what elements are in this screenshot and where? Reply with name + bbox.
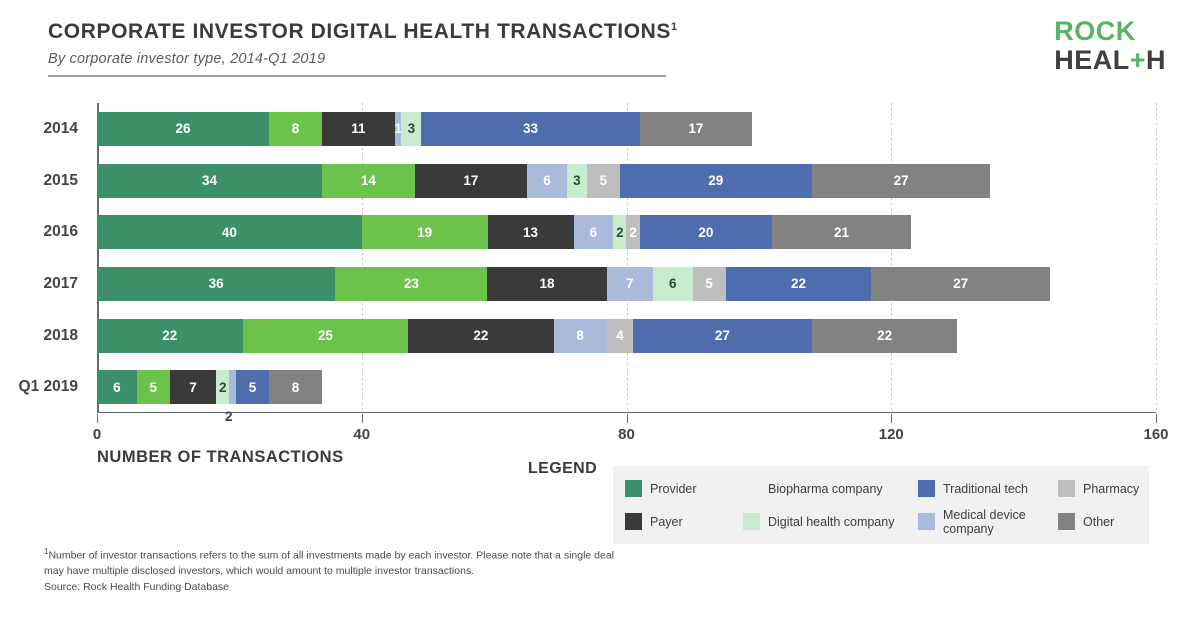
legend-item-label: Other — [1083, 515, 1114, 529]
bar-segment[interactable]: 29 — [620, 164, 812, 198]
bar-segment[interactable]: 8 — [554, 319, 607, 353]
x-tick-label-0: 0 — [93, 426, 101, 443]
bar-segment[interactable]: 22 — [408, 319, 554, 353]
bar-segment[interactable]: 5 — [693, 267, 726, 301]
chart-title-text: CORPORATE INVESTOR DIGITAL HEALTH TRANSA… — [48, 20, 671, 43]
bar-row-q1-2019[interactable]: 657258 — [97, 370, 322, 404]
x-tick-0 — [97, 414, 98, 423]
bar-segment[interactable]: 22 — [97, 319, 243, 353]
bar-segment[interactable]: 3 — [567, 164, 587, 198]
x-tick-40 — [362, 414, 363, 423]
bar-segment[interactable]: 13 — [488, 215, 574, 249]
legend-item-medical-device-company[interactable]: Medical device company — [918, 505, 1058, 538]
legend-grid: ProviderBiopharma companyTraditional tec… — [613, 472, 1149, 538]
gridline-40 — [362, 103, 363, 413]
bar-row-2018[interactable]: 222522842722 — [97, 319, 957, 353]
footnote-source: Source: Rock Health Funding Database — [44, 581, 229, 593]
bar-segment[interactable]: 7 — [607, 267, 653, 301]
x-axis-title: NUMBER OF TRANSACTIONS — [97, 448, 344, 467]
legend-swatch-icon — [1058, 480, 1075, 497]
x-tick-label-40: 40 — [353, 426, 370, 443]
bar-segment[interactable]: 17 — [640, 112, 753, 146]
bar-segment[interactable] — [229, 370, 236, 404]
bar-row-2016[interactable]: 4019136222021 — [97, 215, 911, 249]
logo-heal-text: HEAL — [1054, 45, 1130, 75]
footnote-line-1: Number of investor transactions refers t… — [48, 550, 560, 562]
legend-item-traditional-tech[interactable]: Traditional tech — [918, 472, 1058, 505]
chart-plot-area: 2681113331734141763529274019136222021362… — [97, 103, 1156, 413]
bar-segment[interactable]: 6 — [574, 215, 614, 249]
gridline-160 — [1156, 103, 1157, 413]
bar-segment[interactable]: 36 — [97, 267, 335, 301]
legend-swatch-icon — [918, 480, 935, 497]
legend-item-label: Provider — [650, 482, 697, 496]
bar-segment[interactable]: 6 — [97, 370, 137, 404]
page-title: CORPORATE INVESTOR DIGITAL HEALTH TRANSA… — [48, 20, 668, 44]
legend-item-provider[interactable]: Provider — [625, 472, 743, 505]
bar-segment[interactable]: 6 — [527, 164, 567, 198]
chart-header: CORPORATE INVESTOR DIGITAL HEALTH TRANSA… — [48, 20, 668, 77]
bar-segment[interactable]: 1 — [395, 112, 402, 146]
legend-item-other[interactable]: Other — [1058, 505, 1161, 538]
bar-segment[interactable]: 19 — [362, 215, 488, 249]
legend-swatch-icon — [625, 480, 642, 497]
bar-segment[interactable]: 14 — [322, 164, 415, 198]
legend-heading: LEGEND — [528, 460, 597, 478]
footnote: 1Number of investor transactions refers … — [44, 546, 614, 596]
x-axis: 04080120160 — [97, 414, 1156, 444]
legend-item-label: Biopharma company — [768, 482, 883, 496]
gridline-80 — [627, 103, 628, 413]
title-divider — [48, 75, 666, 77]
bar-segment[interactable]: 18 — [487, 267, 606, 301]
bar-segment[interactable]: 5 — [587, 164, 620, 198]
bar-segment[interactable]: 34 — [97, 164, 322, 198]
y-axis-labels: 20142015201620172018Q1 2019 — [0, 103, 90, 413]
bar-segment[interactable]: 26 — [97, 112, 269, 146]
legend-swatch-icon — [1058, 513, 1075, 530]
bar-row-2014[interactable]: 26811133317 — [97, 112, 752, 146]
bar-row-2015[interactable]: 3414176352927 — [97, 164, 990, 198]
x-tick-120 — [891, 414, 892, 423]
rock-health-logo: ROCK HEAL+H — [1054, 18, 1166, 74]
legend-item-pharmacy[interactable]: Pharmacy — [1058, 472, 1161, 505]
bar-segment[interactable]: 2 — [216, 370, 229, 404]
legend-item-biopharma-company[interactable]: Biopharma company — [743, 472, 918, 505]
chart-title-footnote-marker: 1 — [671, 21, 678, 33]
bar-segment[interactable]: 27 — [633, 319, 812, 353]
logo-health-text: HEAL+H — [1054, 47, 1166, 74]
y-axis-label-2017: 2017 — [44, 275, 78, 293]
bar-segment[interactable]: 3 — [401, 112, 421, 146]
y-axis-label-2014: 2014 — [44, 120, 78, 138]
bar-segment[interactable]: 7 — [170, 370, 216, 404]
overflow-data-label: 2 — [225, 409, 233, 424]
y-axis-label-2015: 2015 — [44, 172, 78, 190]
y-axis-label-q1-2019: Q1 2019 — [19, 378, 78, 396]
bar-segment[interactable]: 27 — [812, 164, 991, 198]
bar-segment[interactable]: 22 — [812, 319, 958, 353]
bar-segment[interactable]: 17 — [415, 164, 528, 198]
legend-swatch-icon — [625, 513, 642, 530]
y-axis-line — [97, 103, 99, 413]
bar-segment[interactable]: 5 — [137, 370, 170, 404]
bar-segment[interactable]: 40 — [97, 215, 362, 249]
x-tick-label-160: 160 — [1143, 426, 1168, 443]
bar-segment[interactable]: 11 — [322, 112, 395, 146]
legend-swatch-icon — [743, 480, 760, 497]
bar-segment[interactable]: 2 — [613, 215, 626, 249]
bar-segment[interactable]: 6 — [653, 267, 693, 301]
legend-item-label: Digital health company — [768, 515, 894, 529]
logo-h-text: H — [1146, 45, 1166, 75]
bar-segment[interactable]: 8 — [269, 112, 322, 146]
legend-item-label: Pharmacy — [1083, 482, 1139, 496]
legend-item-payer[interactable]: Payer — [625, 505, 743, 538]
gridline-120 — [891, 103, 892, 413]
bar-segment[interactable]: 27 — [871, 267, 1050, 301]
bar-segment[interactable]: 22 — [726, 267, 872, 301]
bar-segment[interactable]: 5 — [236, 370, 269, 404]
bar-segment[interactable]: 23 — [335, 267, 487, 301]
legend-item-digital-health-company[interactable]: Digital health company — [743, 505, 918, 538]
x-tick-label-120: 120 — [879, 426, 904, 443]
bar-segment[interactable]: 2 — [626, 215, 639, 249]
bar-segment[interactable]: 20 — [640, 215, 772, 249]
bar-segment[interactable]: 4 — [607, 319, 633, 353]
x-tick-160 — [1156, 414, 1157, 423]
x-tick-80 — [627, 414, 628, 423]
legend-item-label: Medical device company — [943, 508, 1058, 536]
bar-row-2017[interactable]: 3623187652227 — [97, 267, 1050, 301]
legend-box: ProviderBiopharma companyTraditional tec… — [613, 466, 1149, 544]
y-axis-label-2016: 2016 — [44, 223, 78, 241]
bar-segment[interactable]: 33 — [421, 112, 639, 146]
legend-swatch-icon — [743, 513, 760, 530]
legend-item-label: Payer — [650, 515, 683, 529]
x-tick-label-80: 80 — [618, 426, 635, 443]
bar-segment[interactable]: 25 — [243, 319, 408, 353]
chart-subtitle: By corporate investor type, 2014-Q1 2019 — [48, 51, 668, 67]
logo-rock-text: ROCK — [1054, 18, 1166, 45]
legend-swatch-icon — [918, 513, 935, 530]
legend-item-label: Traditional tech — [943, 482, 1028, 496]
y-axis-label-2018: 2018 — [44, 327, 78, 345]
bar-segment[interactable]: 8 — [269, 370, 322, 404]
logo-plus-icon: + — [1130, 45, 1146, 75]
bar-segment[interactable]: 21 — [772, 215, 911, 249]
